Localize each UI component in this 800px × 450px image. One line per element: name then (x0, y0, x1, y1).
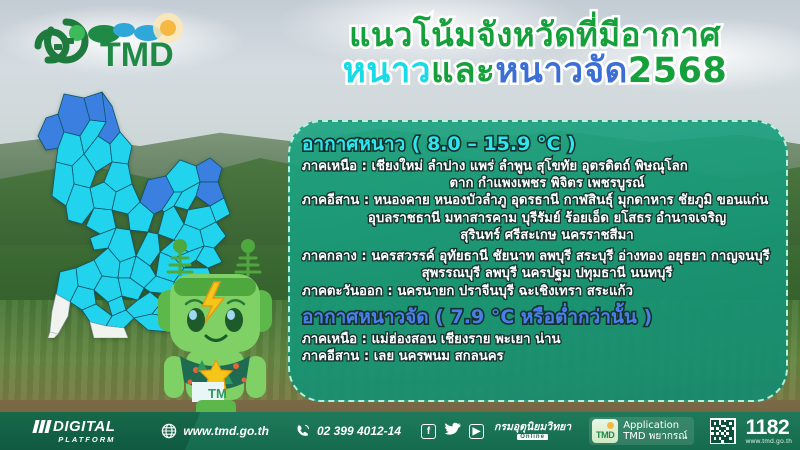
title-cold-word: หนาว (343, 51, 431, 91)
app-promo[interactable]: TMD Application TMD พยากรณ์ (589, 417, 693, 445)
footer-bar: DIGITAL PLATFORM www.tmd.go.th 02 399 40… (0, 412, 800, 450)
social-thai-text: กรมอุตุนิยมวิทยา (494, 422, 571, 433)
mascot-graphic: TM (140, 232, 292, 424)
tmd-logo: TMD (8, 8, 198, 76)
hotline-block[interactable]: 1182 www.tmd.go.th (746, 417, 793, 446)
verycold-northeast-line-1: ภาคอีสาน : เลย นครพนม สกลนคร (302, 348, 774, 365)
phone-item[interactable]: 02 399 4012-14 (295, 423, 401, 439)
title-line-2: หนาวและหนาวจัด2568 (280, 53, 790, 90)
cold-east-line-1: ภาคตะวันออก : นครนายก ปราจีนบุรี ฉะเชิงเ… (302, 283, 774, 300)
hotline-subtext: www.tmd.go.th (746, 439, 793, 446)
province-nakhonphanom (196, 158, 222, 182)
digital-platform-logo: DIGITAL PLATFORM (34, 419, 115, 444)
phone-number: 02 399 4012-14 (317, 424, 401, 438)
cold-northeast-line-3: สุรินทร์ ศรีสะเกษ นครราชสีมา (302, 227, 774, 244)
forecast-panel: อากาศหนาว ( 8.0 – 15.9 °C ) ภาคเหนือ : เ… (288, 120, 788, 402)
qr-code-icon[interactable] (710, 418, 736, 444)
cold-northeast-line-2: อุบลราชธานี มหาสารคาม บุรีรัมย์ ร้อยเอ็ด… (302, 210, 774, 227)
twitter-bird-icon (444, 422, 461, 437)
website-url: www.tmd.go.th (183, 424, 269, 438)
title-and-word: และ (431, 51, 495, 91)
cold-northeast-line-1: ภาคอีสาน : หนองคาย หนองบัวลำภู อุดรธานี … (302, 192, 774, 209)
cold-north-line-1: ภาคเหนือ : เชียงใหม่ ลำปาง แพร่ ลำพูน สุ… (302, 158, 774, 175)
digital-platform-sub: PLATFORM (58, 436, 115, 444)
app-line-2: TMD พยากรณ์ (623, 431, 687, 443)
title-verycold-word: หนาวจัด (495, 51, 628, 91)
app-line-1: Application (623, 420, 687, 432)
tmd-app-icon: TMD (592, 419, 618, 443)
youtube-icon[interactable]: ▶ (469, 424, 484, 439)
website-item[interactable]: www.tmd.go.th (161, 423, 269, 439)
tmd-robot-mascot: TM (140, 232, 292, 424)
page-title: แนวโน้มจังหวัดที่มีอากาศ หนาวและหนาวจัด2… (280, 18, 790, 89)
cold-central-line-1: ภาคกลาง : นครสวรรค์ อุทัยธานี ชัยนาท ลพบ… (302, 248, 774, 265)
verycold-north-line-1: ภาคเหนือ : แม่ฮ่องสอน เชียงราย พะเยา น่า… (302, 331, 774, 348)
twitter-icon[interactable] (444, 422, 461, 441)
facebook-icon[interactable]: f (421, 424, 436, 439)
province-ratchaburi (50, 294, 70, 334)
tmd-logo-graphic: TMD (8, 8, 198, 76)
social-thai-badge: Online (517, 434, 548, 440)
title-line-1: แนวโน้มจังหวัดที่มีอากาศ (280, 18, 790, 53)
phone-icon (295, 423, 311, 439)
cold-north-line-2: ตาก กำแพงเพชร พิจิตร เพชรบูรณ์ (302, 175, 774, 192)
cold-section-heading: อากาศหนาว ( 8.0 – 15.9 °C ) (302, 132, 774, 158)
hotline-number: 1182 (746, 417, 790, 438)
digital-platform-main: DIGITAL (53, 419, 115, 434)
title-year: 2568 (628, 51, 727, 91)
app-promo-text: Application TMD พยากรณ์ (623, 420, 687, 443)
mascot-apron-text: TM (208, 386, 227, 401)
tmd-app-icon-label: TMD (596, 430, 614, 440)
social-thai-label: กรมอุตุนิยมวิทยา Online (494, 422, 571, 440)
digital-bars-icon (34, 420, 50, 433)
social-links: f ▶ (421, 422, 484, 441)
verycold-section-heading: อากาศหนาวจัด ( 7.9 °C หรือต่ำกว่านั้น ) (302, 305, 774, 331)
globe-icon (161, 423, 177, 439)
cold-central-line-2: สุพรรณบุรี ลพบุรี นครปฐม ปทุมธานี นนทบุร… (302, 265, 774, 282)
tmd-logo-text: TMD (100, 36, 174, 74)
mascot-antennae (168, 239, 260, 276)
tmd-thai-monogram-icon (38, 22, 85, 60)
